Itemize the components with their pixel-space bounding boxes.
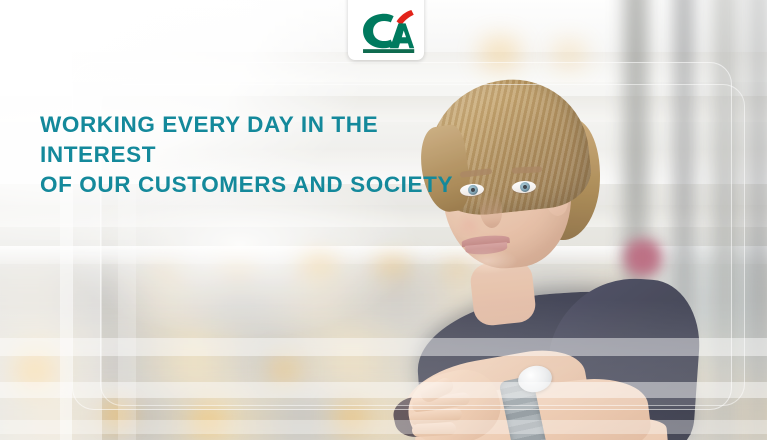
bokeh-lamp-12 <box>330 400 372 434</box>
chin-highlight <box>456 248 518 274</box>
bokeh-lamp-10 <box>188 404 228 438</box>
bokeh-lamp-11 <box>262 352 306 388</box>
bokeh-lamp-8 <box>8 348 62 394</box>
mullion-3 <box>712 0 738 440</box>
credit-agricole-banner: WORKING EVERY DAY IN THE INTEREST OF OUR… <box>0 0 767 440</box>
iris-left <box>468 184 479 195</box>
headline-line-2: OF OUR CUSTOMERS AND SOCIETY <box>40 170 460 200</box>
bokeh-lamp-9 <box>96 396 140 434</box>
cheek <box>452 214 486 236</box>
logo-box[interactable] <box>348 0 424 60</box>
headline: WORKING EVERY DAY IN THE INTEREST OF OUR… <box>40 110 460 200</box>
finger-3 <box>412 422 457 437</box>
mullion-4 <box>749 0 767 440</box>
credit-agricole-ca-logo-icon <box>357 9 415 53</box>
iris-right <box>520 182 531 193</box>
headline-line-1: WORKING EVERY DAY IN THE INTEREST <box>40 112 378 167</box>
